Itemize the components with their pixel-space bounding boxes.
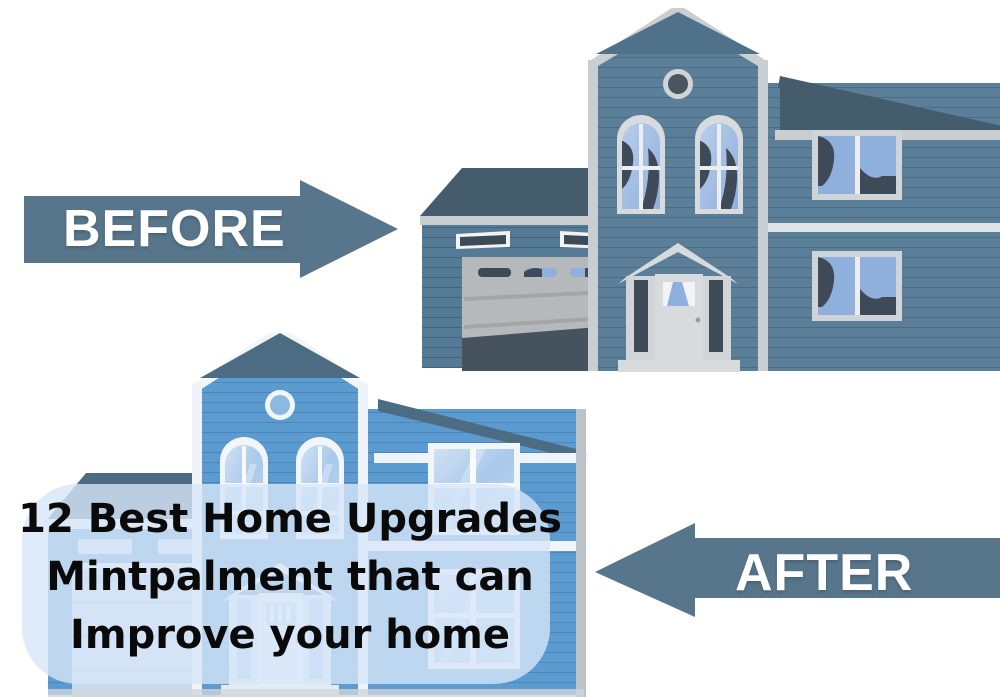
before-house-illustration (420, 8, 1000, 373)
before-window-lower-right (812, 251, 902, 321)
after-arrow-label: AFTER (735, 543, 913, 603)
before-arched-window-right (695, 115, 743, 214)
before-window-upper-right (812, 130, 902, 200)
page-title: 12 Best Home Upgrades Mintpalment that c… (30, 490, 550, 675)
before-garage-eave (420, 216, 616, 225)
poster-canvas: BEFORE AFTER 12 Best Home Upgrades Mintp… (0, 0, 1000, 697)
before-garage-roof (420, 168, 616, 216)
title-line-3: Improve your home (70, 606, 510, 664)
before-arrow-label: BEFORE (63, 199, 286, 259)
before-arched-window-left (617, 115, 665, 214)
title-line-1: 12 Best Home Upgrades (18, 490, 562, 548)
title-line-2: Mintpalment that can (46, 548, 534, 606)
